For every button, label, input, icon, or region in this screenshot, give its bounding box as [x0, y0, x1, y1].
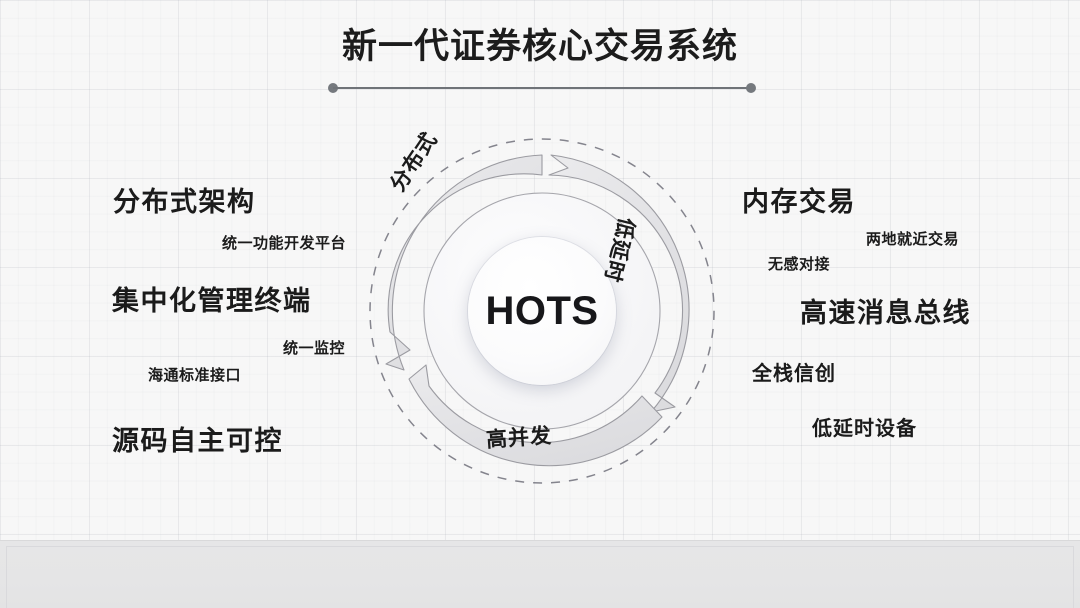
- feature-label-unified-dev-platform: 统一功能开发平台: [222, 232, 346, 253]
- divider-dot-right: [746, 83, 756, 93]
- center-label: HOTS: [485, 291, 598, 331]
- feature-label-low-latency-equipment: 低延时设备: [812, 412, 917, 441]
- feature-label-distributed-architecture: 分布式架构: [113, 180, 256, 219]
- center-circle: HOTS: [468, 237, 616, 385]
- page-title: 新一代证券核心交易系统: [0, 18, 1080, 69]
- feature-label-source-code-autonomy: 源码自主可控: [112, 419, 283, 458]
- footer-bar: [0, 540, 1080, 608]
- feature-label-dual-site-nearby-trading: 两地就近交易: [866, 228, 959, 249]
- feature-label-full-stack-innovation: 全栈信创: [752, 357, 836, 386]
- feature-label-centralized-management-terminal: 集中化管理终端: [112, 279, 312, 318]
- slide-canvas: 新一代证券核心交易系统: [0, 0, 1080, 608]
- feature-label-haitong-standard-interface: 海通标准接口: [148, 364, 241, 385]
- circular-diagram: HOTS 分布式 低延时 高并发: [352, 128, 732, 494]
- feature-label-seamless-integration: 无感对接: [768, 253, 830, 274]
- feature-label-unified-monitoring: 统一监控: [283, 337, 345, 358]
- divider-rule: [333, 87, 751, 89]
- feature-label-high-speed-message-bus: 高速消息总线: [800, 291, 971, 330]
- feature-label-in-memory-trading: 内存交易: [742, 180, 856, 219]
- title-divider: [328, 83, 756, 93]
- arc-label-high-concurrency: 高并发: [485, 419, 553, 454]
